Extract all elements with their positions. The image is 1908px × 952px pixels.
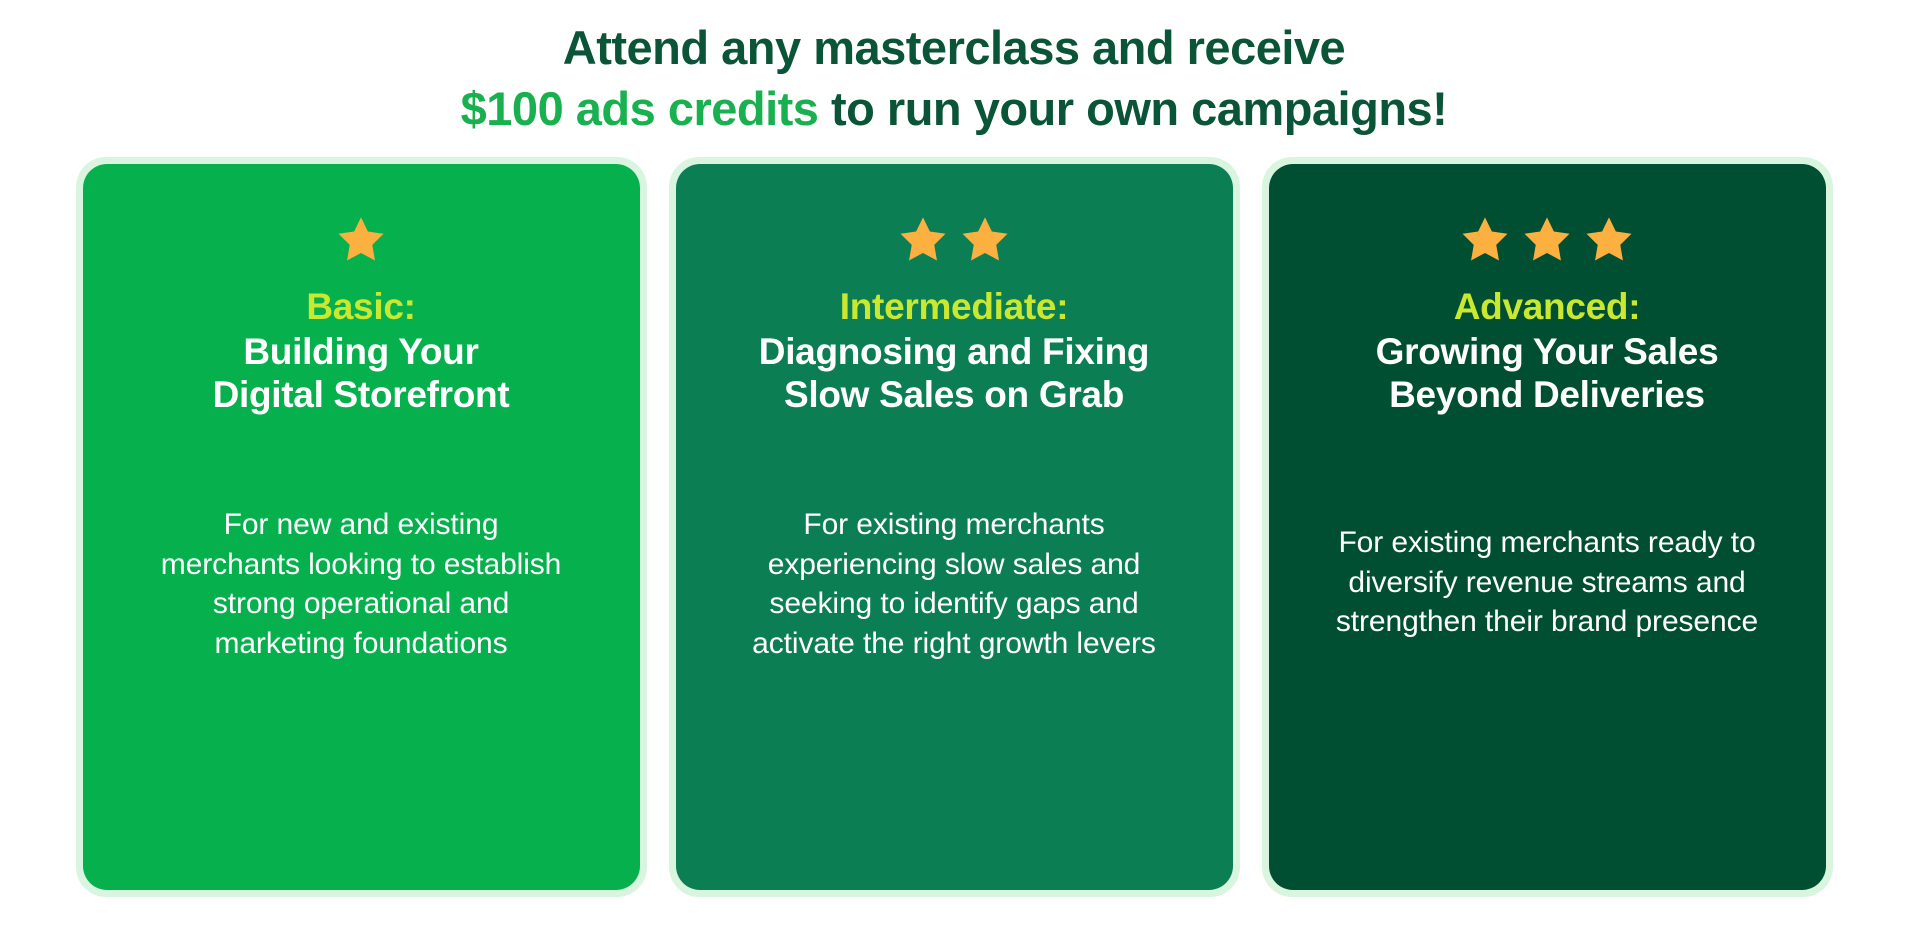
card-title: Growing Your Sales Beyond Deliveries bbox=[1376, 330, 1719, 417]
masterclass-cards-row: Basic: Building Your Digital Storefront … bbox=[76, 157, 1833, 897]
promo-banner: Attend any masterclass and receive $100 … bbox=[0, 0, 1908, 952]
headline-line-2: $100 ads credits to run your own campaig… bbox=[461, 83, 1448, 136]
card-description: For new and existing merchants looking t… bbox=[161, 505, 562, 663]
star-icon bbox=[1522, 214, 1572, 264]
card-advanced-outer: Advanced: Growing Your Sales Beyond Deli… bbox=[1262, 157, 1833, 897]
page-title: Attend any masterclass and receive $100 … bbox=[461, 22, 1448, 135]
card-level-label: Advanced: bbox=[1454, 286, 1640, 327]
card-advanced[interactable]: Advanced: Growing Your Sales Beyond Deli… bbox=[1269, 164, 1826, 890]
star-rating-advanced bbox=[1460, 210, 1634, 268]
card-description: For existing merchants experiencing slow… bbox=[752, 505, 1156, 663]
star-icon bbox=[898, 214, 948, 264]
card-title: Diagnosing and Fixing Slow Sales on Grab bbox=[759, 330, 1149, 417]
headline-line-2-rest: to run your own campaigns! bbox=[818, 82, 1447, 135]
card-level-label: Basic: bbox=[306, 286, 415, 327]
star-icon bbox=[336, 214, 386, 264]
ads-credits-accent: $100 ads credits bbox=[461, 82, 819, 135]
card-basic[interactable]: Basic: Building Your Digital Storefront … bbox=[83, 164, 640, 890]
card-level-label: Intermediate: bbox=[840, 286, 1068, 327]
card-basic-outer: Basic: Building Your Digital Storefront … bbox=[76, 157, 647, 897]
star-rating-basic bbox=[336, 210, 386, 268]
star-rating-intermediate bbox=[898, 210, 1010, 268]
card-intermediate[interactable]: Intermediate: Diagnosing and Fixing Slow… bbox=[676, 164, 1233, 890]
star-icon bbox=[1584, 214, 1634, 264]
card-title: Building Your Digital Storefront bbox=[213, 330, 510, 417]
star-icon bbox=[1460, 214, 1510, 264]
card-intermediate-outer: Intermediate: Diagnosing and Fixing Slow… bbox=[669, 157, 1240, 897]
star-icon bbox=[960, 214, 1010, 264]
headline-line-1: Attend any masterclass and receive bbox=[461, 22, 1448, 75]
card-description: For existing merchants ready to diversif… bbox=[1336, 523, 1758, 642]
